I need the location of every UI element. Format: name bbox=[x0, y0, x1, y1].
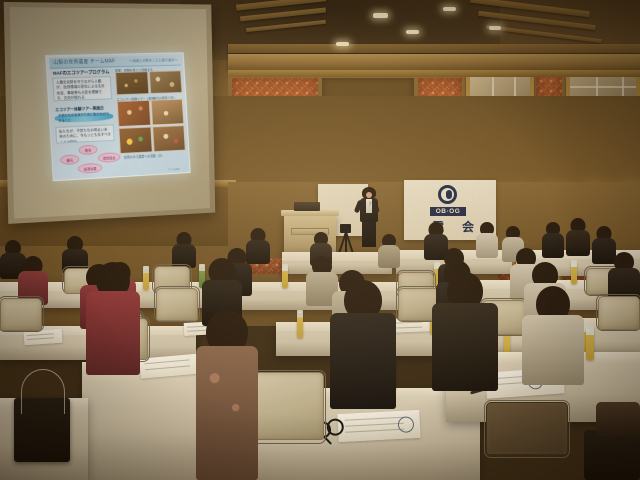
attendee bbox=[608, 252, 640, 300]
water-bottle bbox=[143, 268, 149, 290]
slide-photo bbox=[149, 70, 183, 94]
presenter-face bbox=[366, 192, 372, 198]
presenter-legs bbox=[362, 221, 376, 247]
microphone bbox=[369, 201, 371, 206]
attendee-foreground bbox=[330, 280, 396, 406]
presentation-slide: 山梨の世界遺産 チームMAF 〜地域と分野をこえた取り組み〜 MAFのエコツアー… bbox=[45, 52, 190, 181]
chair bbox=[0, 298, 42, 346]
ceiling-light bbox=[336, 42, 349, 46]
slide-title-text: 山梨の世界遺産 チームMAF bbox=[53, 58, 115, 66]
slide-wave-text: 子供たちの未来のために私たちができること bbox=[55, 110, 112, 123]
attendee bbox=[476, 222, 498, 256]
cornice-molding-lower bbox=[228, 70, 640, 77]
photo-caption: 自然の中で農業への活動（大） bbox=[124, 153, 165, 160]
oval-label-environment: 環境保全 bbox=[98, 152, 121, 163]
slide-photo bbox=[118, 127, 152, 154]
handbag bbox=[14, 398, 70, 462]
banner-kanji-2: 会 bbox=[462, 218, 474, 235]
water-bottle bbox=[297, 312, 303, 338]
slide-photo bbox=[115, 71, 149, 95]
attendee-foreground bbox=[196, 310, 258, 478]
chair bbox=[156, 288, 198, 336]
slide-photo bbox=[151, 99, 185, 126]
projection-screen: 山梨の世界遺産 チームMAF 〜地域と分野をこえた取り組み〜 MAFのエコツアー… bbox=[4, 2, 216, 224]
ceiling-light bbox=[489, 26, 501, 30]
attendee bbox=[542, 222, 564, 256]
organization-logo-icon bbox=[438, 185, 457, 204]
water-bottle bbox=[586, 328, 594, 360]
chair bbox=[486, 402, 568, 480]
attendee-foreground bbox=[432, 272, 498, 388]
oval-label-economy: 経済効果 bbox=[78, 163, 103, 174]
ceiling-light bbox=[443, 7, 456, 11]
attendee-shoulder bbox=[596, 402, 640, 436]
oval-label-tourism: 観光 bbox=[60, 154, 80, 165]
water-bottle bbox=[571, 262, 577, 284]
slide-body-left: 人類文化財を守りながら人類が、自然環境の変化による生計安定、事故等も大変を理解で… bbox=[52, 76, 112, 101]
slide-photo bbox=[152, 125, 186, 152]
oval-label-education: 教育 bbox=[78, 145, 97, 156]
slide-body-left-3: 私たちが、子供たちの明るい未来のために、今もっともなすべきことは何か。 bbox=[55, 124, 114, 143]
slide-photo bbox=[117, 100, 151, 127]
attendee bbox=[378, 234, 400, 266]
water-bottle bbox=[282, 266, 288, 288]
attendee bbox=[172, 232, 196, 266]
projection-screen-surface: 山梨の世界遺産 チームMAF 〜地域と分野をこえた取り組み〜 MAFのエコツアー… bbox=[10, 7, 210, 219]
conference-room-photo: 山梨の世界遺産 チームMAF 〜地域と分野をこえた取り組み〜 MAFのエコツアー… bbox=[0, 0, 640, 480]
ceiling-edge-beam bbox=[228, 44, 640, 53]
ceiling-light bbox=[406, 30, 419, 34]
banner-logo-text: OB·OG bbox=[430, 207, 466, 216]
attendee-foreground bbox=[584, 430, 640, 480]
cornice-molding bbox=[228, 54, 640, 70]
handout-paper bbox=[337, 410, 420, 442]
av-equipment bbox=[294, 202, 320, 211]
attendee-foreground bbox=[522, 286, 584, 382]
handbag-chain-strap bbox=[21, 369, 66, 415]
attendee bbox=[566, 218, 590, 254]
slide-subtitle-text: 〜地域と分野をこえた取り組み〜 bbox=[129, 58, 178, 64]
ceiling-light bbox=[373, 13, 388, 18]
slide-title-bar: 山梨の世界遺産 チームMAF 〜地域と分野をこえた取り組み〜 bbox=[49, 55, 181, 69]
attendee-foreground bbox=[86, 262, 140, 372]
slide-footer: チームMAF bbox=[168, 167, 180, 171]
chair bbox=[598, 296, 640, 346]
